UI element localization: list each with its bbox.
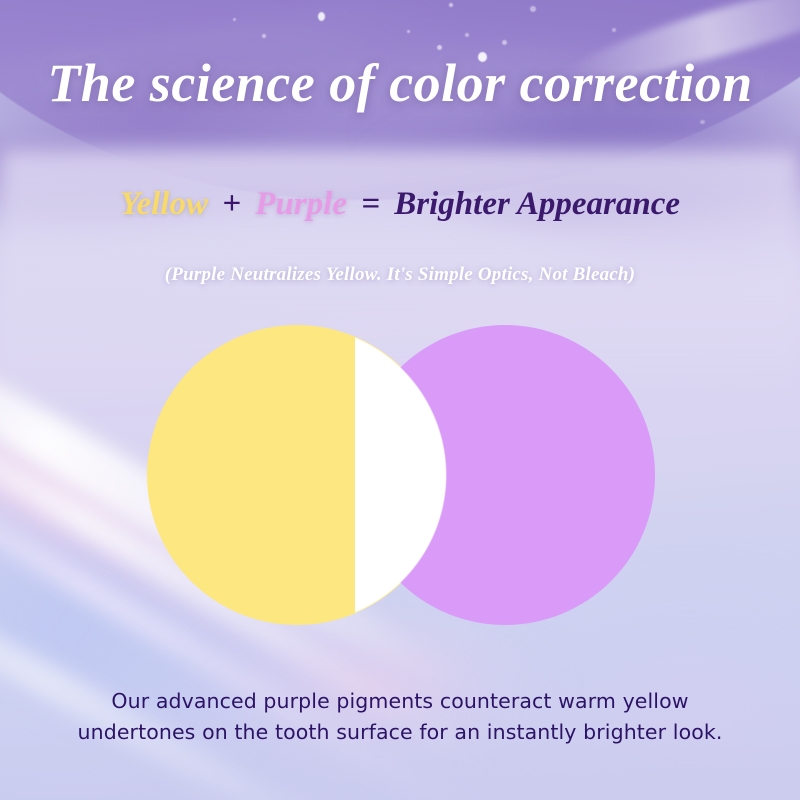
footnote-line-1: Our advanced purple pigments counteract …	[60, 686, 740, 717]
poster-canvas: The science of color correction Yellow +…	[0, 0, 800, 800]
footnote-line-2: undertones on the tooth surface for an i…	[60, 717, 740, 748]
venn-diagram	[0, 0, 800, 800]
footnote-text: Our advanced purple pigments counteract …	[60, 686, 740, 748]
venn-overlap-fill	[355, 325, 447, 625]
venn-overlap-region	[355, 325, 447, 625]
